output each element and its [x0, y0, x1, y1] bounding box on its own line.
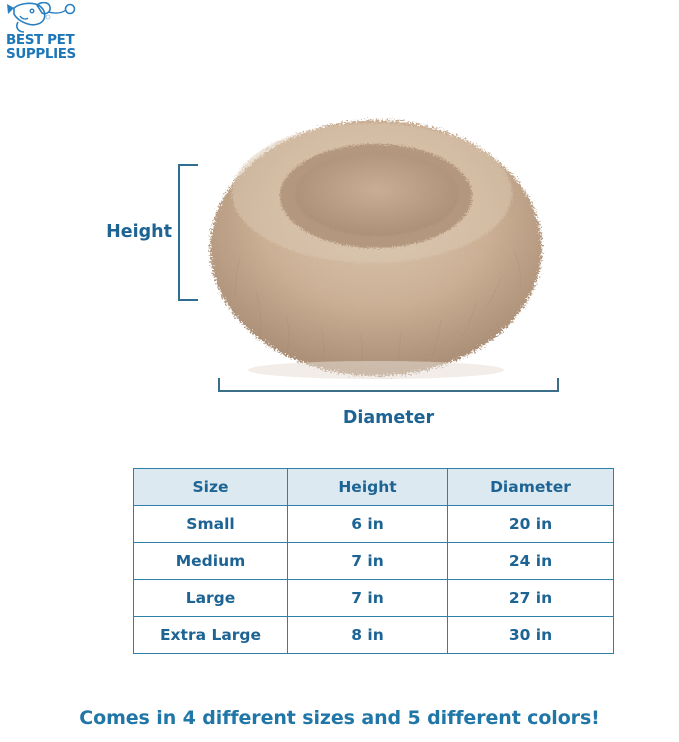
cell-diameter: 27 in	[448, 580, 614, 617]
table-row: Large 7 in 27 in	[134, 580, 614, 617]
brand-name: BEST PET SUPPLIES	[6, 34, 76, 61]
table-header-height: Height	[288, 469, 448, 506]
table-header-diameter: Diameter	[448, 469, 614, 506]
cell-diameter: 20 in	[448, 506, 614, 543]
cell-size: Large	[134, 580, 288, 617]
cell-diameter: 30 in	[448, 617, 614, 654]
cell-size: Medium	[134, 543, 288, 580]
infographic-page: BEST PET SUPPLIES	[0, 0, 679, 742]
height-label: Height	[72, 222, 172, 242]
cell-height: 7 in	[288, 543, 448, 580]
cell-height: 8 in	[288, 617, 448, 654]
brand-name-line2: SUPPLIES	[6, 48, 76, 62]
brand-logo: BEST PET SUPPLIES	[4, 2, 90, 66]
cell-size: Extra Large	[134, 617, 288, 654]
table-row: Small 6 in 20 in	[134, 506, 614, 543]
table-header-row: Size Height Diameter	[134, 469, 614, 506]
table-row: Extra Large 8 in 30 in	[134, 617, 614, 654]
footer-tagline: Comes in 4 different sizes and 5 differe…	[0, 707, 679, 729]
size-chart-table: Size Height Diameter Small 6 in 20 in Me…	[133, 468, 614, 654]
product-image	[196, 78, 556, 383]
diameter-bracket	[218, 378, 559, 392]
cell-height: 6 in	[288, 506, 448, 543]
table-row: Medium 7 in 24 in	[134, 543, 614, 580]
cell-size: Small	[134, 506, 288, 543]
height-bracket	[178, 164, 198, 301]
cell-height: 7 in	[288, 580, 448, 617]
diameter-label: Diameter	[218, 408, 559, 428]
table-header-size: Size	[134, 469, 288, 506]
cell-diameter: 24 in	[448, 543, 614, 580]
